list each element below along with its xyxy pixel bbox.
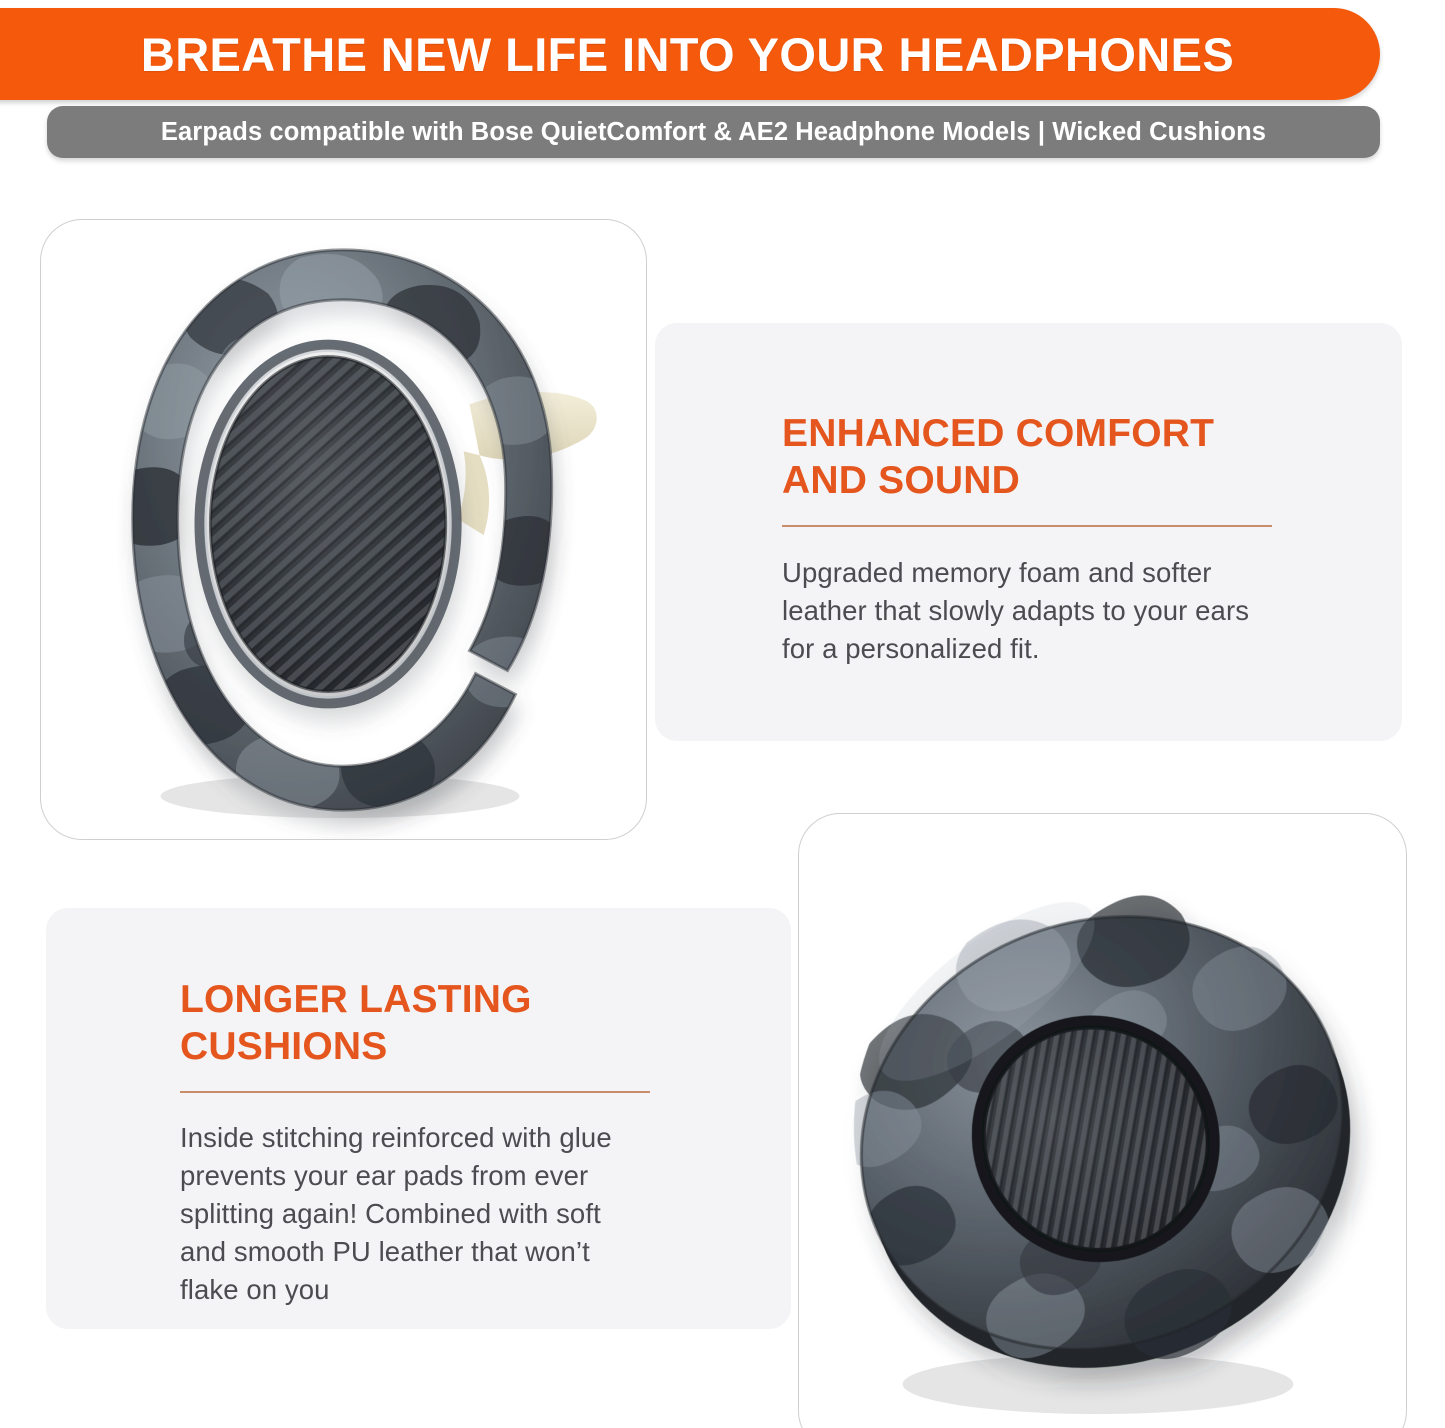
header-subtitle: Earpads compatible with Bose QuietComfor… bbox=[161, 118, 1266, 147]
feature-title-cushions: LONGER LASTING CUSHIONS bbox=[180, 976, 650, 1070]
feature-title-line1: LONGER LASTING bbox=[180, 978, 532, 1021]
product-image-card-front bbox=[40, 219, 647, 840]
feature-divider bbox=[782, 525, 1272, 527]
feature-title-line2: CUSHIONS bbox=[180, 1025, 387, 1068]
feature-title-comfort: ENHANCED COMFORT AND SOUND bbox=[782, 410, 1272, 504]
feature-panel-cushions: LONGER LASTING CUSHIONS Inside stitching… bbox=[46, 908, 791, 1329]
feature-body-comfort: Upgraded memory foam and softer leather … bbox=[782, 554, 1272, 668]
product-infographic: BREATHE NEW LIFE INTO YOUR HEADPHONES Ea… bbox=[0, 0, 1445, 1428]
feature-body-cushions: Inside stitching reinforced with glue pr… bbox=[180, 1119, 650, 1309]
feature-title-line1: ENHANCED COMFORT bbox=[782, 412, 1214, 455]
feature-divider bbox=[180, 1091, 650, 1093]
header-subbanner: Earpads compatible with Bose QuietComfor… bbox=[47, 106, 1380, 158]
earpad-angled-view-illustration bbox=[799, 814, 1406, 1428]
header-title: BREATHE NEW LIFE INTO YOUR HEADPHONES bbox=[86, 27, 1234, 82]
header-banner: BREATHE NEW LIFE INTO YOUR HEADPHONES bbox=[0, 8, 1380, 100]
feature-panel-comfort: ENHANCED COMFORT AND SOUND Upgraded memo… bbox=[655, 323, 1402, 741]
feature-title-line2: AND SOUND bbox=[782, 459, 1020, 502]
product-image-card-angled bbox=[798, 813, 1407, 1428]
earpad-front-view-illustration bbox=[41, 220, 646, 839]
